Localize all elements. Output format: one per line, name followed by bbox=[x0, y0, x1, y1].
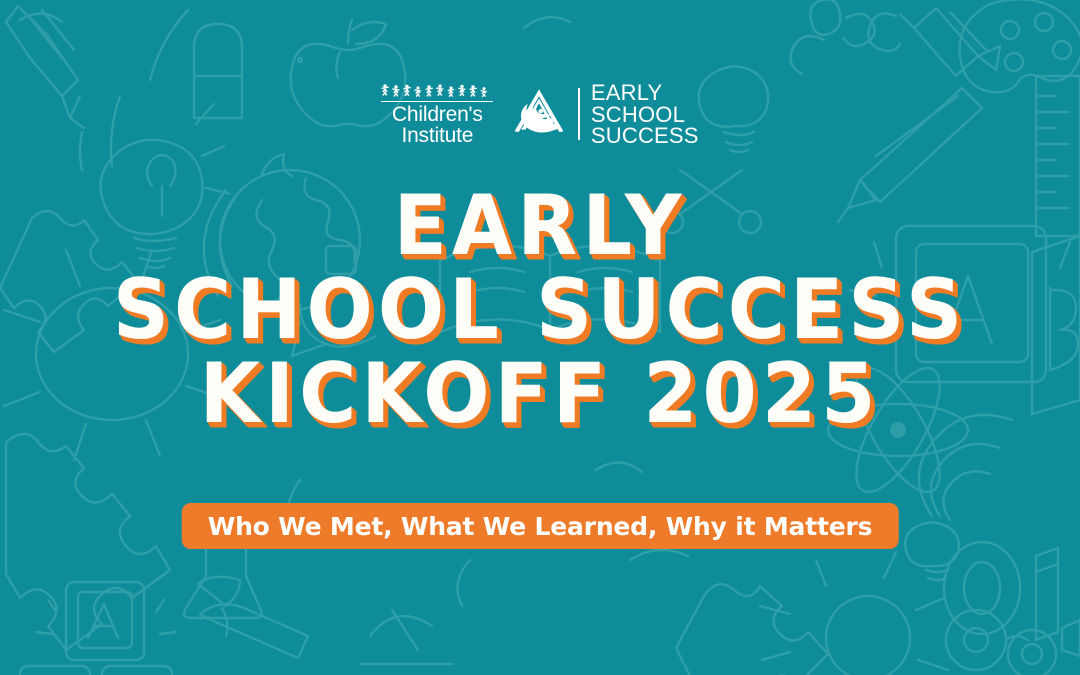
puzzle-piece-icon bbox=[676, 584, 828, 675]
beaker-icon bbox=[184, 542, 262, 618]
sun-icon bbox=[760, 552, 948, 675]
ci-line-1: Children's bbox=[392, 103, 483, 126]
subtitle-banner: Who We Met, What We Learned, Why it Matt… bbox=[182, 503, 899, 549]
glasses-icon bbox=[946, 610, 1056, 675]
ess-wordmark: EARLY SCHOOL SUCCESS bbox=[591, 82, 699, 147]
logo-divider-rule bbox=[381, 101, 493, 103]
ess-line-3: SUCCESS bbox=[591, 125, 699, 147]
microscope-icon bbox=[360, 610, 452, 664]
headline-line-3: KICKOFF 2025 bbox=[0, 350, 1080, 439]
headline-line-1: EARLY bbox=[0, 182, 1080, 271]
glasses-icon bbox=[298, 58, 302, 62]
poster-canvas: Children's Institute EARLY SCHOOL bbox=[0, 0, 1080, 675]
number-one-icon bbox=[1036, 548, 1058, 640]
headline-block: EARLY SCHOOL SUCCESS KICKOFF 2025 bbox=[0, 182, 1080, 434]
puzzle-piece-icon bbox=[6, 434, 170, 650]
crayon-icon bbox=[200, 604, 308, 658]
headline-line-2: SCHOOL SUCCESS bbox=[0, 266, 1080, 355]
triangular-swirl-icon bbox=[511, 86, 567, 142]
abc-text-icon bbox=[810, 0, 900, 51]
crayon-icon bbox=[198, 577, 240, 606]
alphabet-block-a-icon bbox=[36, 582, 176, 660]
logo-row: Children's Institute EARLY SCHOOL bbox=[0, 82, 1080, 147]
abc-text-icon bbox=[790, 36, 824, 74]
pencil-icon bbox=[900, 8, 1000, 76]
subtitle-text: Who We Met, What We Learned, Why it Matt… bbox=[208, 514, 873, 539]
logo-vertical-divider bbox=[578, 88, 580, 140]
ruler-icon bbox=[1062, 620, 1080, 656]
early-school-success-logo: EARLY SCHOOL SUCCESS bbox=[511, 82, 698, 147]
childrens-institute-logo: Children's Institute bbox=[381, 83, 511, 147]
ess-line-1: EARLY bbox=[591, 82, 699, 104]
lightbulb-icon bbox=[905, 522, 959, 580]
ci-line-2: Institute bbox=[392, 125, 483, 146]
number-zero-icon bbox=[944, 542, 1020, 634]
paint-palette-icon bbox=[960, 0, 1080, 92]
running-children-icon bbox=[381, 83, 493, 100]
childrens-institute-wordmark: Children's Institute bbox=[392, 104, 483, 146]
alphabet-block-b-icon bbox=[20, 666, 172, 675]
ess-line-2: SCHOOL bbox=[591, 104, 699, 126]
